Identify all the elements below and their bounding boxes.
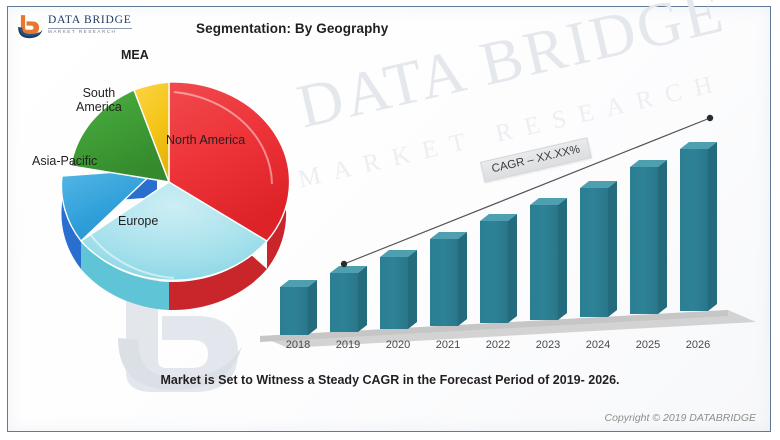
bar-year-label-2021: 2021 [426,339,470,351]
bar-year-label-2019: 2019 [326,339,370,351]
bar-year-label-2026: 2026 [676,339,720,351]
brand-logo-subtitle: MARKET RESEARCH [48,28,134,36]
bar-year-label-2018: 2018 [276,339,320,351]
page-title: Segmentation: By Geography [196,21,388,36]
bar-chart-svg [258,96,758,361]
bar-2023 [530,198,567,320]
bar-2024 [580,181,617,317]
bar-year-label-2025: 2025 [626,339,670,351]
infographic-canvas: DATA BRIDGE MARKET RESEARCH DATA BRIDGE … [0,0,780,440]
pie-label-europe: Europe [118,214,158,228]
bar-2025 [630,160,667,314]
bar-2021 [430,232,467,326]
bar-2026 [680,142,717,311]
bar-year-label-2024: 2024 [576,339,620,351]
pie-label-north-america: North America [166,133,245,147]
bar-year-label-2020: 2020 [376,339,420,351]
bar-year-label-2022: 2022 [476,339,520,351]
forecast-bar-chart: CAGR – XX.XX% 2018 2019 2020 2021 2022 2… [258,96,758,361]
bar-2020 [380,250,417,329]
caption-text: Market is Set to Witness a Steady CAGR i… [0,373,780,387]
bar-year-label-2023: 2023 [526,339,570,351]
bar-2022 [480,214,517,323]
pie-label-south-america: SouthAmerica [76,86,122,114]
bar-2019 [330,266,367,332]
brand-logo-divider [48,28,132,29]
bar-2018 [280,280,317,335]
copyright-text: Copyright © 2019 DATABRIDGE [605,412,757,424]
brand-logo-text: DATA BRIDGE MARKET RESEARCH [48,14,134,36]
pie-label-asia-pacific: Asia-Pacific [32,154,97,168]
brand-logo-title: DATA BRIDGE [48,14,134,27]
pie-label-mea: MEA [121,48,149,62]
